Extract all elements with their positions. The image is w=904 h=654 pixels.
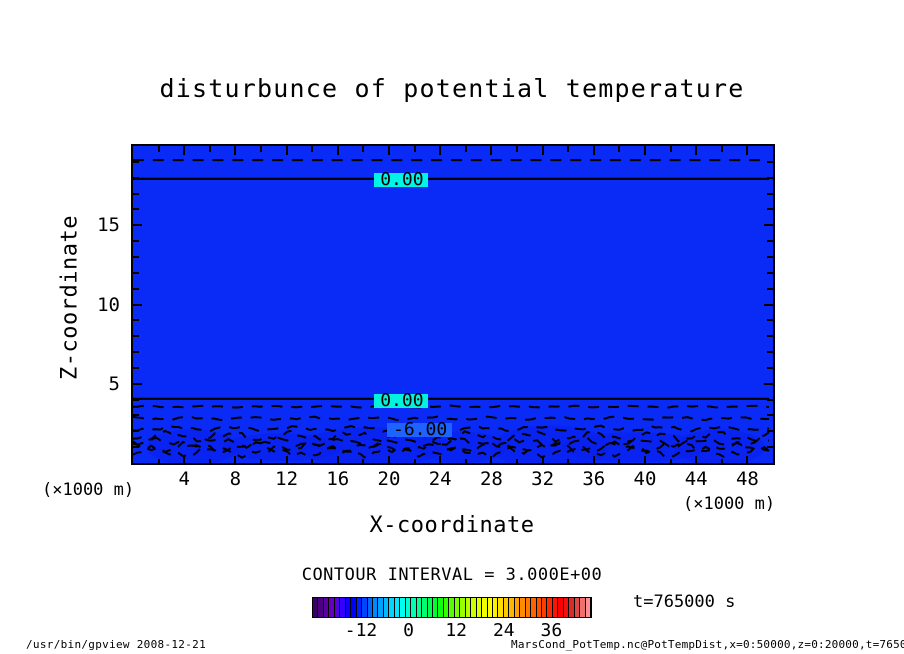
y-tick-right-16: [767, 208, 773, 210]
x-tick-28: [490, 456, 492, 465]
x-tick-top-44: [695, 146, 697, 155]
time-annotation: t=765000 s: [633, 592, 735, 612]
x-axis-title: X-coordinate: [0, 513, 904, 538]
contour-lines-layer: [133, 146, 773, 463]
y-tick-12: [133, 272, 139, 274]
x-tick-top-42: [670, 146, 672, 152]
x-tick-18: [362, 459, 364, 465]
contour-plot-area: [131, 144, 775, 465]
x-tick-label-4: 4: [162, 468, 206, 490]
y-tick-right-19: [767, 161, 773, 163]
x-tick-14: [311, 459, 313, 465]
colorbar-tick-label-12: 12: [431, 620, 481, 641]
y-tick-right-9: [767, 319, 773, 321]
contour-label: -6.00: [389, 421, 451, 439]
y-tick-6: [133, 367, 139, 369]
x-tick-label-48: 48: [725, 468, 769, 490]
x-tick-top-8: [234, 146, 236, 155]
x-tick-20: [388, 456, 390, 465]
x-tick-top-48: [746, 146, 748, 155]
x-tick-24: [439, 456, 441, 465]
x-tick-top-12: [286, 146, 288, 155]
x-tick-6: [209, 459, 211, 465]
y-tick-right-13: [767, 256, 773, 258]
x-tick-top-40: [644, 146, 646, 155]
x-tick-36: [593, 456, 595, 465]
x-tick-top-38: [618, 146, 620, 152]
y-tick-8: [133, 335, 139, 337]
y-tick-right-18: [767, 177, 773, 179]
y-tick-right-6: [767, 367, 773, 369]
x-tick-10: [260, 459, 262, 465]
y-tick-1: [133, 446, 139, 448]
y-tick-16: [133, 208, 139, 210]
x-tick-46: [721, 459, 723, 465]
y-tick-right-11: [767, 288, 773, 290]
x-tick-top-22: [414, 146, 416, 152]
colorbar-tick-label-0: 0: [384, 620, 434, 641]
y-tick-17: [133, 193, 139, 195]
y-tick-right-15: [764, 224, 773, 226]
contour-label: 0.00: [376, 171, 427, 189]
x-axis-unit-note: (×1000 m): [683, 494, 775, 514]
x-tick-16: [337, 456, 339, 465]
x-tick-48: [746, 456, 748, 465]
y-tick-right-1: [767, 446, 773, 448]
y-tick-right-4: [767, 399, 773, 401]
y-tick-right-2: [767, 430, 773, 432]
y-tick-15: [133, 224, 142, 226]
footer-dataset-info: MarsCond_PotTemp.nc@PotTempDist,x=0:5000…: [511, 638, 904, 651]
x-tick-label-40: 40: [623, 468, 667, 490]
x-tick-44: [695, 456, 697, 465]
x-tick-top-34: [567, 146, 569, 152]
x-tick-label-16: 16: [316, 468, 360, 490]
x-tick-42: [670, 459, 672, 465]
x-tick-top-16: [337, 146, 339, 155]
x-tick-top-20: [388, 146, 390, 155]
x-tick-label-44: 44: [674, 468, 718, 490]
y-tick-right-10: [764, 304, 773, 306]
x-tick-34: [567, 459, 569, 465]
x-tick-label-24: 24: [418, 468, 462, 490]
y-tick-right-3: [767, 414, 773, 416]
x-tick-label-12: 12: [265, 468, 309, 490]
y-tick-4: [133, 399, 139, 401]
x-tick-label-20: 20: [367, 468, 411, 490]
y-tick-19: [133, 161, 139, 163]
y-tick-5: [133, 383, 142, 385]
y-tick-14: [133, 240, 139, 242]
x-tick-label-36: 36: [572, 468, 616, 490]
x-tick-30: [516, 459, 518, 465]
x-tick-12: [286, 456, 288, 465]
y-tick-10: [133, 304, 142, 306]
x-tick-top-28: [490, 146, 492, 155]
x-tick-top-14: [311, 146, 313, 152]
y-tick-11: [133, 288, 139, 290]
x-tick-32: [542, 456, 544, 465]
y-tick-13: [133, 256, 139, 258]
x-tick-40: [644, 456, 646, 465]
x-tick-label-32: 32: [521, 468, 565, 490]
x-tick-top-6: [209, 146, 211, 152]
y-tick-right-5: [764, 383, 773, 385]
x-tick-top-26: [465, 146, 467, 152]
x-tick-top-32: [542, 146, 544, 155]
colorbar-band-50: [586, 598, 591, 617]
x-tick-8: [234, 456, 236, 465]
y-axis-unit-note: (×1000 m): [42, 480, 134, 500]
x-tick-top-36: [593, 146, 595, 155]
x-tick-label-8: 8: [213, 468, 257, 490]
x-tick-top-24: [439, 146, 441, 155]
y-tick-right-8: [767, 335, 773, 337]
y-tick-label-5: 5: [80, 373, 120, 395]
y-tick-3: [133, 414, 139, 416]
y-tick-right-17: [767, 193, 773, 195]
x-tick-top-2: [158, 146, 160, 152]
x-tick-top-18: [362, 146, 364, 152]
y-tick-9: [133, 319, 139, 321]
x-tick-label-28: 28: [469, 468, 513, 490]
y-tick-right-14: [767, 240, 773, 242]
colorbar-tick-label--12: -12: [336, 620, 386, 641]
x-tick-top-46: [721, 146, 723, 152]
contour-label: 0.00: [376, 392, 427, 410]
colorbar: [312, 597, 592, 618]
x-tick-22: [414, 459, 416, 465]
x-tick-38: [618, 459, 620, 465]
contour-line-level--6: [133, 417, 769, 421]
y-tick-label-15: 15: [80, 214, 120, 236]
x-tick-top-10: [260, 146, 262, 152]
y-tick-2: [133, 430, 139, 432]
footer-program-info: /usr/bin/gpview 2008-12-21: [26, 638, 206, 651]
y-tick-7: [133, 351, 139, 353]
y-tick-18: [133, 177, 139, 179]
contour-line-level--3: [133, 406, 769, 408]
y-tick-label-10: 10: [80, 294, 120, 316]
x-tick-4: [183, 456, 185, 465]
x-tick-26: [465, 459, 467, 465]
x-tick-top-4: [183, 146, 185, 155]
page-title: disturbunce of potential temperature: [0, 74, 904, 103]
y-axis-title: Z-coordinate: [58, 198, 83, 398]
contour-interval-text: CONTOUR INTERVAL = 3.000E+00: [0, 565, 904, 585]
y-tick-right-7: [767, 351, 773, 353]
x-tick-2: [158, 459, 160, 465]
y-tick-right-12: [767, 272, 773, 274]
x-tick-top-30: [516, 146, 518, 152]
